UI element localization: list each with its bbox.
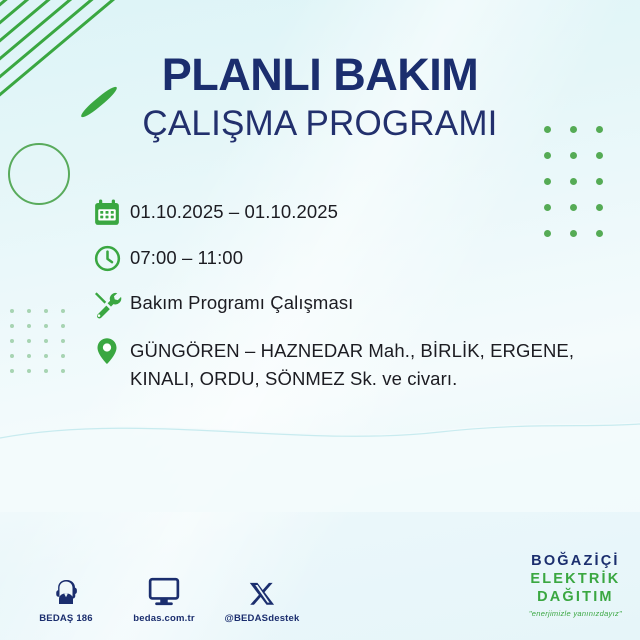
tools-icon bbox=[84, 287, 130, 320]
circle-outline-decoration bbox=[8, 143, 70, 205]
dot-grid-left-decoration bbox=[10, 309, 78, 384]
x-twitter-icon bbox=[224, 569, 300, 607]
planned-maintenance-poster: PLANLI BAKIM ÇALIŞMA PROGRAMI bbox=[0, 0, 640, 640]
monitor-icon bbox=[126, 569, 202, 607]
contact-twitter-label: @BEDASdestek bbox=[224, 613, 300, 624]
title-primary: PLANLI BAKIM bbox=[0, 52, 640, 99]
brand-line-2: ELEKTRİK bbox=[529, 570, 622, 588]
contact-phone[interactable]: BEDAŞ 186 bbox=[28, 569, 104, 624]
contact-website[interactable]: bedas.com.tr bbox=[126, 569, 202, 624]
background-wave bbox=[0, 392, 640, 512]
title-secondary: ÇALIŞMA PROGRAMI bbox=[0, 103, 640, 145]
brand-line-1: BOĞAZİÇİ bbox=[529, 552, 622, 570]
contact-list: BEDAŞ 186 bedas.com.tr bbox=[28, 569, 300, 624]
calendar-icon bbox=[84, 196, 130, 228]
detail-time-text: 07:00 – 11:00 bbox=[130, 242, 243, 271]
footer: BEDAŞ 186 bedas.com.tr bbox=[0, 542, 640, 632]
detail-row-time: 07:00 – 11:00 bbox=[84, 242, 604, 273]
contact-twitter[interactable]: @BEDASdestek bbox=[224, 569, 300, 624]
detail-location-text: GÜNGÖREN – HAZNEDAR Mah., BİRLİK, ERGENE… bbox=[130, 334, 604, 393]
support-agent-icon bbox=[28, 569, 104, 607]
contact-phone-label: BEDAŞ 186 bbox=[28, 613, 104, 624]
detail-date-text: 01.10.2025 – 01.10.2025 bbox=[130, 196, 338, 225]
brand-tagline: "enerjimizle yanınızdayız" bbox=[529, 609, 622, 618]
bedas-logo: BOĞAZİÇİ ELEKTRİK DAĞITIM "enerjimizle y… bbox=[529, 552, 622, 618]
detail-row-location: GÜNGÖREN – HAZNEDAR Mah., BİRLİK, ERGENE… bbox=[84, 334, 604, 393]
detail-worktype-text: Bakım Programı Çalışması bbox=[130, 287, 353, 316]
brand-line-3: DAĞITIM bbox=[529, 588, 622, 606]
clock-icon bbox=[84, 242, 130, 273]
maintenance-details: 01.10.2025 – 01.10.2025 07:00 – 11:00 bbox=[84, 196, 604, 407]
contact-website-label: bedas.com.tr bbox=[126, 613, 202, 624]
detail-row-worktype: Bakım Programı Çalışması bbox=[84, 287, 604, 320]
detail-row-date: 01.10.2025 – 01.10.2025 bbox=[84, 196, 604, 228]
page-title: PLANLI BAKIM ÇALIŞMA PROGRAMI bbox=[0, 52, 640, 145]
location-pin-icon bbox=[84, 334, 130, 366]
